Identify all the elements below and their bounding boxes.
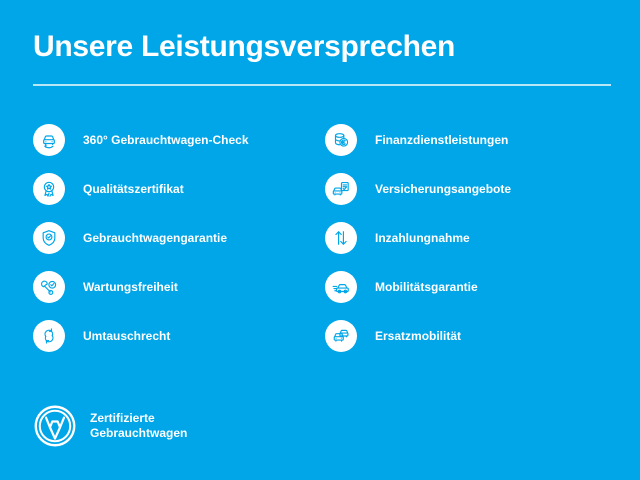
feature-item-versicherungsangebote: Versicherungsangebote xyxy=(325,173,615,205)
arrows-up-down-icon xyxy=(325,222,357,254)
exchange-arrows-icon xyxy=(33,320,65,352)
car-motion-icon xyxy=(325,271,357,303)
feature-label: Umtauschrecht xyxy=(83,328,170,344)
feature-item-gebrauchtwagengarantie: Gebrauchtwagengarantie xyxy=(33,222,323,254)
feature-item-inzahlungnahme: Inzahlungnahme xyxy=(325,222,615,254)
feature-label: Wartungsfreiheit xyxy=(83,279,178,295)
feature-label: Gebrauchtwagengarantie xyxy=(83,230,227,246)
feature-label: 360° Gebrauchtwagen-Check xyxy=(83,132,249,148)
leistungsversprechen-poster: Unsere Leistungsversprechen xyxy=(0,0,640,480)
feature-item-qualitaetszertifikat: Qualitätszertifikat xyxy=(33,173,323,205)
wrench-check-icon xyxy=(33,271,65,303)
feature-item-gebrauchtwagen-check: 360° Gebrauchtwagen-Check xyxy=(33,124,323,156)
feature-item-umtauschrecht: Umtauschrecht xyxy=(33,320,323,352)
header: Unsere Leistungsversprechen xyxy=(33,28,611,86)
car-document-check-icon xyxy=(325,173,357,205)
feature-columns: 360° Gebrauchtwagen-Check Qualitätszerti… xyxy=(0,124,640,369)
page-title: Unsere Leistungsversprechen xyxy=(33,28,611,66)
feature-column-left: 360° Gebrauchtwagen-Check Qualitätszerti… xyxy=(33,124,323,369)
feature-label: Ersatzmobilität xyxy=(375,328,461,344)
car-360-check-icon xyxy=(33,124,65,156)
title-divider xyxy=(33,84,611,86)
footer-text: Zertifizierte Gebrauchtwagen xyxy=(90,411,187,441)
feature-item-finanzdienstleistungen: Finanzdienstleistungen xyxy=(325,124,615,156)
feature-column-right: Finanzdienstleistungen Versicheru xyxy=(325,124,615,369)
feature-label: Inzahlungnahme xyxy=(375,230,470,246)
feature-label: Qualitätszertifikat xyxy=(83,181,184,197)
feature-label: Finanzdienstleistungen xyxy=(375,132,508,148)
two-cars-icon xyxy=(325,320,357,352)
volkswagen-logo-icon xyxy=(33,404,77,448)
award-rosette-icon xyxy=(33,173,65,205)
shield-check-icon xyxy=(33,222,65,254)
footer-line-2: Gebrauchtwagen xyxy=(90,426,187,441)
feature-item-mobilitaetsgarantie: Mobilitätsgarantie xyxy=(325,271,615,303)
footer-line-1: Zertifizierte xyxy=(90,411,187,426)
footer-logo-lockup: Zertifizierte Gebrauchtwagen xyxy=(33,404,187,448)
feature-label: Mobilitätsgarantie xyxy=(375,279,478,295)
feature-item-wartungsfreiheit: Wartungsfreiheit xyxy=(33,271,323,303)
feature-label: Versicherungsangebote xyxy=(375,181,511,197)
feature-item-ersatzmobilitaet: Ersatzmobilität xyxy=(325,320,615,352)
coins-euro-icon xyxy=(325,124,357,156)
